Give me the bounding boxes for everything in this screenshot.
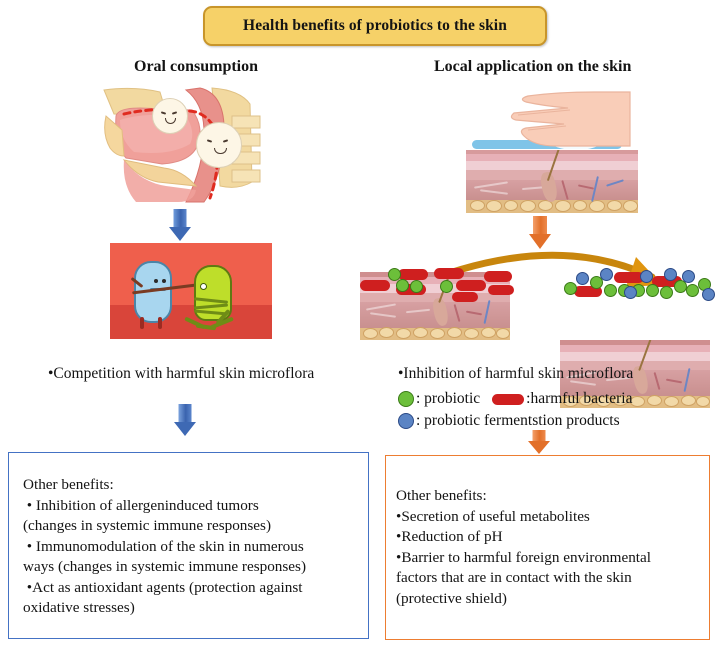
heading-oral-consumption: Oral consumption xyxy=(134,58,258,76)
box-right-title: Other benefits: xyxy=(396,486,701,507)
box-left-line-6: oxidative stresses) xyxy=(23,598,360,619)
box-right-line-3: •Barrier to harmful foreign environmenta… xyxy=(396,548,701,569)
page-title: Health benefits of probiotics to the ski… xyxy=(243,17,507,35)
box-left-line-3: • Immunomodulation of the skin in numero… xyxy=(23,537,360,558)
microbe-face-small xyxy=(152,98,188,134)
legend-row-ferment: : probiotic fermentstion products xyxy=(398,410,632,432)
probiotic-green-circle-icon xyxy=(398,391,414,407)
hand-application-illustration xyxy=(466,88,638,213)
box-right-line-4: factors that are in contact with the ski… xyxy=(396,568,701,589)
page-title-banner: Health benefits of probiotics to the ski… xyxy=(203,6,547,46)
box-left-line-1: • Inhibition of allergeninduced tumors xyxy=(23,496,360,517)
caption-competition: •Competition with harmful skin microflor… xyxy=(48,365,314,383)
box-left-line-2: (changes in systemic immune responses) xyxy=(23,516,360,537)
microbe-face-large xyxy=(196,122,242,168)
caption-inhibition: •Inhibition of harmful skin microflora xyxy=(398,365,633,383)
box-left-line-5: •Act as antioxidant agents (protection a… xyxy=(23,578,360,599)
arrow-to-right-benefits-box xyxy=(524,430,554,456)
ferment-blue-circle-icon xyxy=(398,413,414,429)
box-left-title: Other benefits: xyxy=(23,475,360,496)
legend: : probiotic :harmful bacteria : probioti… xyxy=(398,388,632,432)
box-left-line-4: ways (changes in systemic immune respons… xyxy=(23,557,360,578)
box-right-line-2: •Reduction of pH xyxy=(396,527,701,548)
microbes-before-skin xyxy=(356,266,516,296)
bacteria-competition-illustration xyxy=(110,243,272,339)
harmful-bacteria-red-bar-icon xyxy=(492,394,524,405)
arrow-oral-to-competition xyxy=(165,209,195,241)
legend-label-ferment: : probiotic fermentstion products xyxy=(416,412,620,430)
other-benefits-box-oral: Other benefits: • Inhibition of allergen… xyxy=(8,452,369,639)
box-right-line-1: •Secretion of useful metabolites xyxy=(396,507,701,528)
skin-cross-section-top xyxy=(466,150,638,213)
microbes-after-skin xyxy=(556,264,716,298)
arrow-to-left-benefits-box xyxy=(170,404,200,438)
oral-cross-section-illustration xyxy=(100,86,272,206)
other-benefits-box-topical: Other benefits: •Secretion of useful met… xyxy=(385,455,710,640)
box-right-line-5: (protective shield) xyxy=(396,589,701,610)
legend-label-harmful: :harmful bacteria xyxy=(526,390,632,408)
heading-local-application: Local application on the skin xyxy=(434,58,631,76)
legend-label-probiotic: : probiotic xyxy=(416,390,480,408)
legend-row-probiotic: : probiotic :harmful bacteria xyxy=(398,388,632,410)
hand-svg xyxy=(498,90,638,152)
mouth-anatomy-svg xyxy=(100,86,272,206)
